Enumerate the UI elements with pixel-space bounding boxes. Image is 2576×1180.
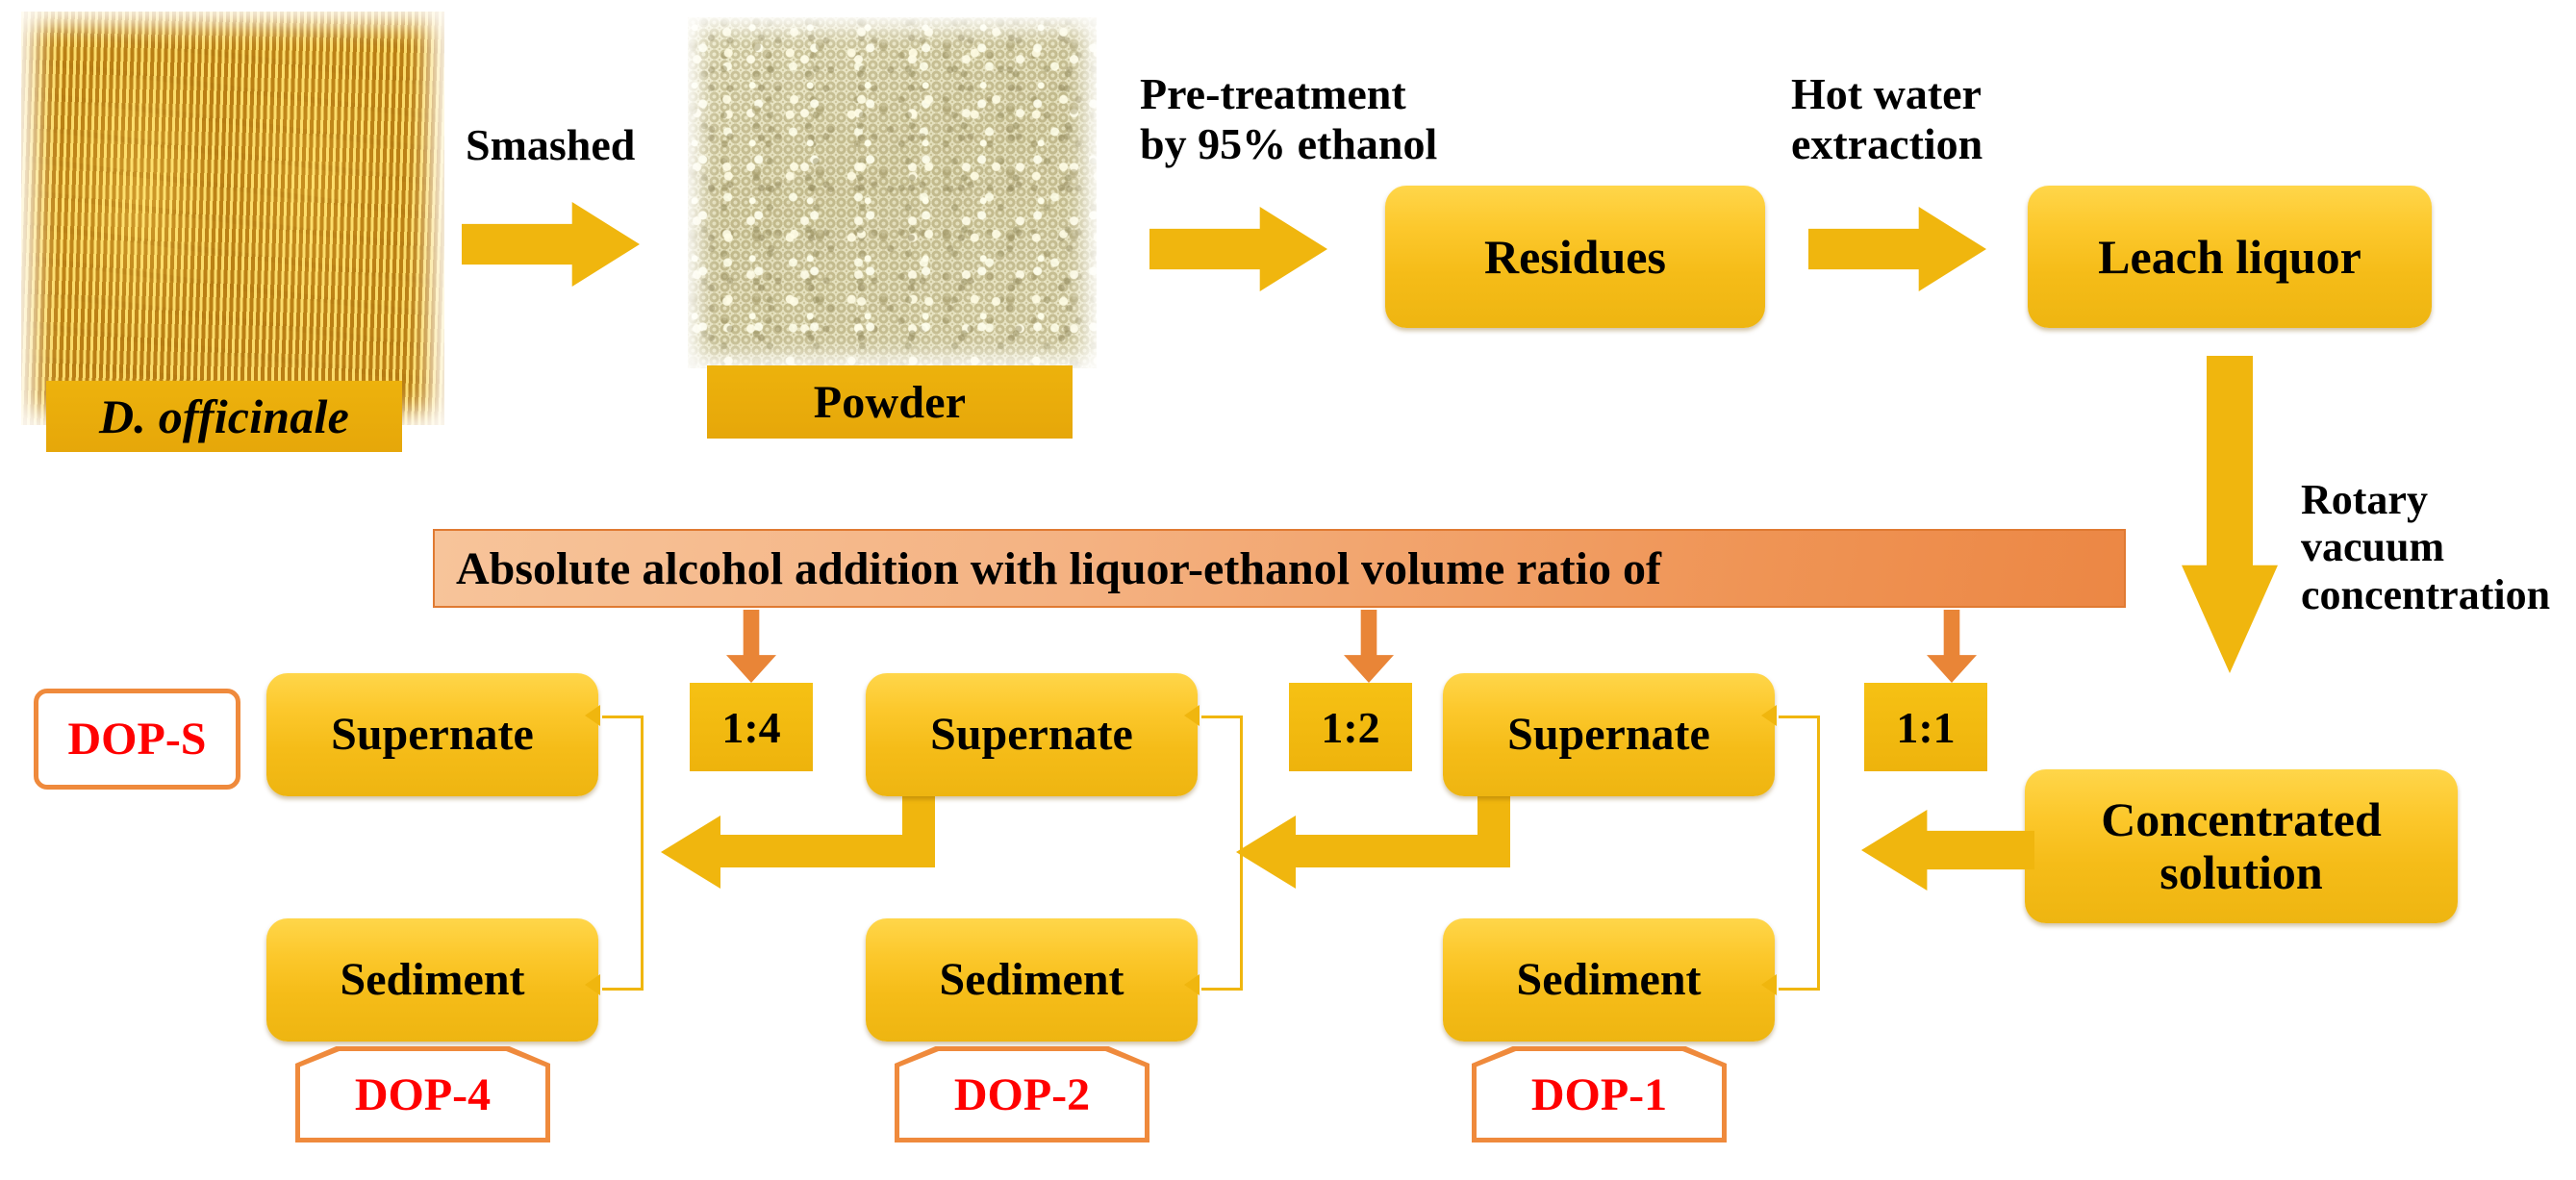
product-tag-dop-s[interactable]: DOP-S <box>34 689 240 790</box>
pretreatment-arrow-icon <box>1149 207 1327 291</box>
loop-connector-branch-1-4 <box>602 716 644 991</box>
node-sediment-branch-1-1[interactable]: Sediment <box>1443 918 1775 1042</box>
node-sediment-branch-1-2[interactable]: Sediment <box>866 918 1198 1042</box>
ratio-chip-1-1: 1:1 <box>1864 683 1987 771</box>
pretreatment-label: Pre-treatment by 95% ethanol <box>1140 69 1437 168</box>
product-tag-dop-1[interactable]: DOP-1 <box>1472 1046 1727 1142</box>
bar-to-ratio-2-arrow-icon <box>1344 610 1394 683</box>
rotary-vacuum-arrow-icon <box>2182 356 2278 673</box>
powder-caption: Powder <box>707 365 1073 439</box>
loop-head-sediment-1-4 <box>585 974 600 995</box>
hot-water-arrow-icon <box>1808 207 1986 291</box>
alcohol-addition-bar: Absolute alcohol addition with liquor-et… <box>433 529 2126 608</box>
node-supernate-branch-1-1[interactable]: Supernate <box>1443 673 1775 796</box>
hot-water-extraction-label: Hot water extraction <box>1791 69 1983 168</box>
product-tag-dop-2[interactable]: DOP-2 <box>895 1046 1149 1142</box>
d-officinale-caption: D. officinale <box>46 381 402 452</box>
d-officinale-photo <box>21 12 444 425</box>
node-leach-liquor[interactable]: Leach liquor <box>2028 186 2432 328</box>
loop-connector-branch-1-1 <box>1779 716 1820 991</box>
product-tag-dop-1-label: DOP-1 <box>1477 1051 1722 1138</box>
rotary-vacuum-label: Rotary vacuum concentration <box>2301 476 2576 618</box>
ratio-chip-1-4: 1:4 <box>690 683 813 771</box>
smashed-label: Smashed <box>466 120 635 170</box>
flowchart-canvas: D. officinale Smashed Powder Pre-treatme… <box>0 0 2576 1180</box>
node-supernate-branch-1-4[interactable]: Supernate <box>266 673 598 796</box>
loop-head-supernate-1-1 <box>1761 705 1777 726</box>
smashed-arrow-icon <box>462 202 640 287</box>
loop-head-sediment-1-2 <box>1184 974 1200 995</box>
node-sediment-branch-1-4[interactable]: Sediment <box>266 918 598 1042</box>
concentrated-to-branch1-arrow-icon <box>1861 810 2034 891</box>
loop-head-supernate-1-4 <box>585 705 600 726</box>
powder-photo <box>688 17 1097 368</box>
product-tag-dop-4-label: DOP-4 <box>300 1051 545 1138</box>
loop-head-supernate-1-2 <box>1184 705 1200 726</box>
loop-connector-branch-1-2 <box>1201 716 1243 991</box>
product-tag-dop-4[interactable]: DOP-4 <box>295 1046 550 1142</box>
node-supernate-branch-1-2[interactable]: Supernate <box>866 673 1198 796</box>
product-tag-dop-2-label: DOP-2 <box>899 1051 1145 1138</box>
node-concentrated-solution[interactable]: Concentrated solution <box>2025 769 2458 923</box>
bar-to-ratio-4-arrow-icon <box>726 610 776 683</box>
node-residues[interactable]: Residues <box>1385 186 1765 328</box>
bar-to-ratio-1-arrow-icon <box>1927 610 1977 683</box>
loop-head-sediment-1-1 <box>1761 974 1777 995</box>
ratio-chip-1-2: 1:2 <box>1289 683 1412 771</box>
